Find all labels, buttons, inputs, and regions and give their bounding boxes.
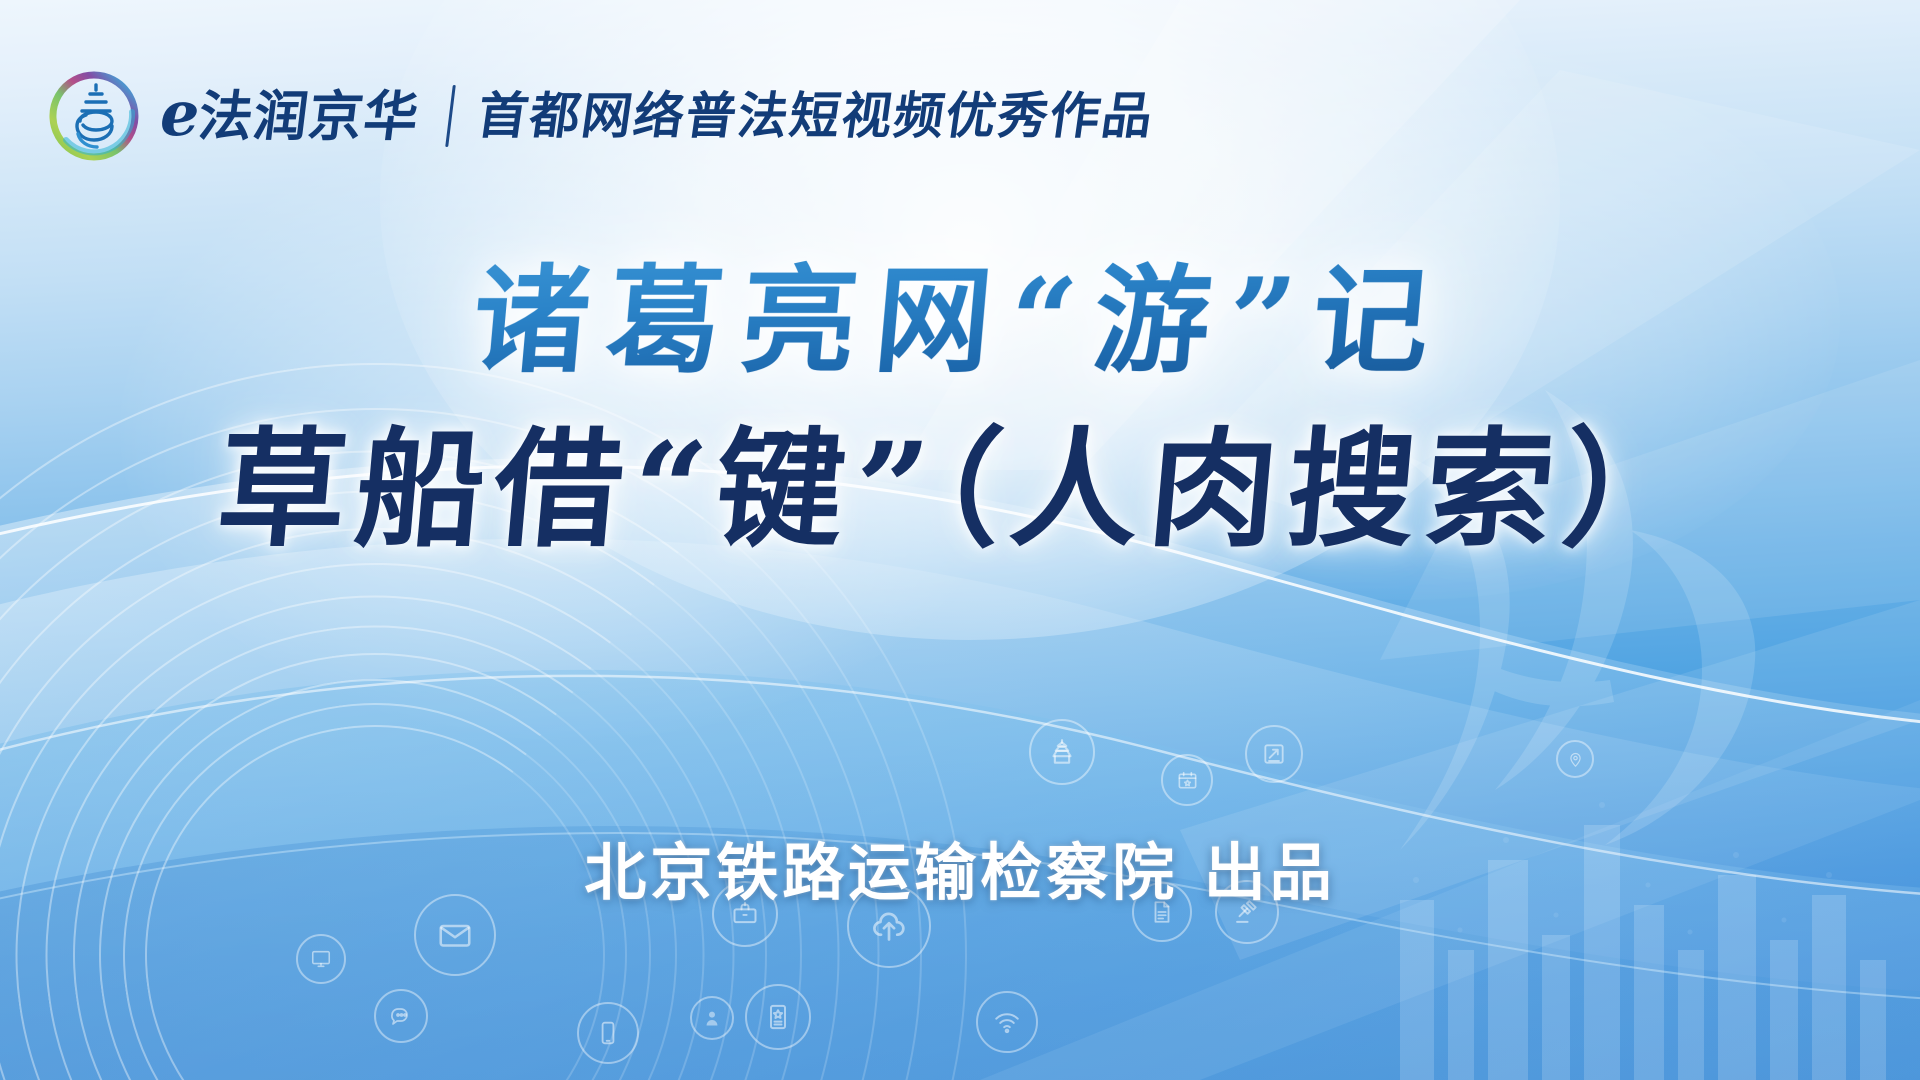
pagoda-e-icon	[72, 82, 120, 152]
title-line-2: 草船借“键”（人肉搜索）	[0, 420, 1920, 561]
attribution-text: 北京铁路运输检察院 出品	[0, 822, 1920, 912]
brand-letter-e: e	[160, 83, 197, 145]
brand-subtitle: 首都网络普法短视频优秀作品	[475, 91, 1158, 141]
title-line-1: 诸葛亮网“游”记	[0, 258, 1920, 386]
brand-logo	[46, 68, 142, 164]
brand-name: 法润京华	[196, 89, 423, 143]
brand-header: e 法润京华 首都网络普法短视频优秀作品	[46, 66, 1154, 166]
brand-divider	[446, 85, 457, 147]
poster-canvas: e 法润京华 首都网络普法短视频优秀作品 诸葛亮网“游”记 草船借“键”（人肉搜…	[0, 0, 1920, 1080]
brand-lockup: e 法润京华 首都网络普法短视频优秀作品	[160, 85, 1154, 147]
